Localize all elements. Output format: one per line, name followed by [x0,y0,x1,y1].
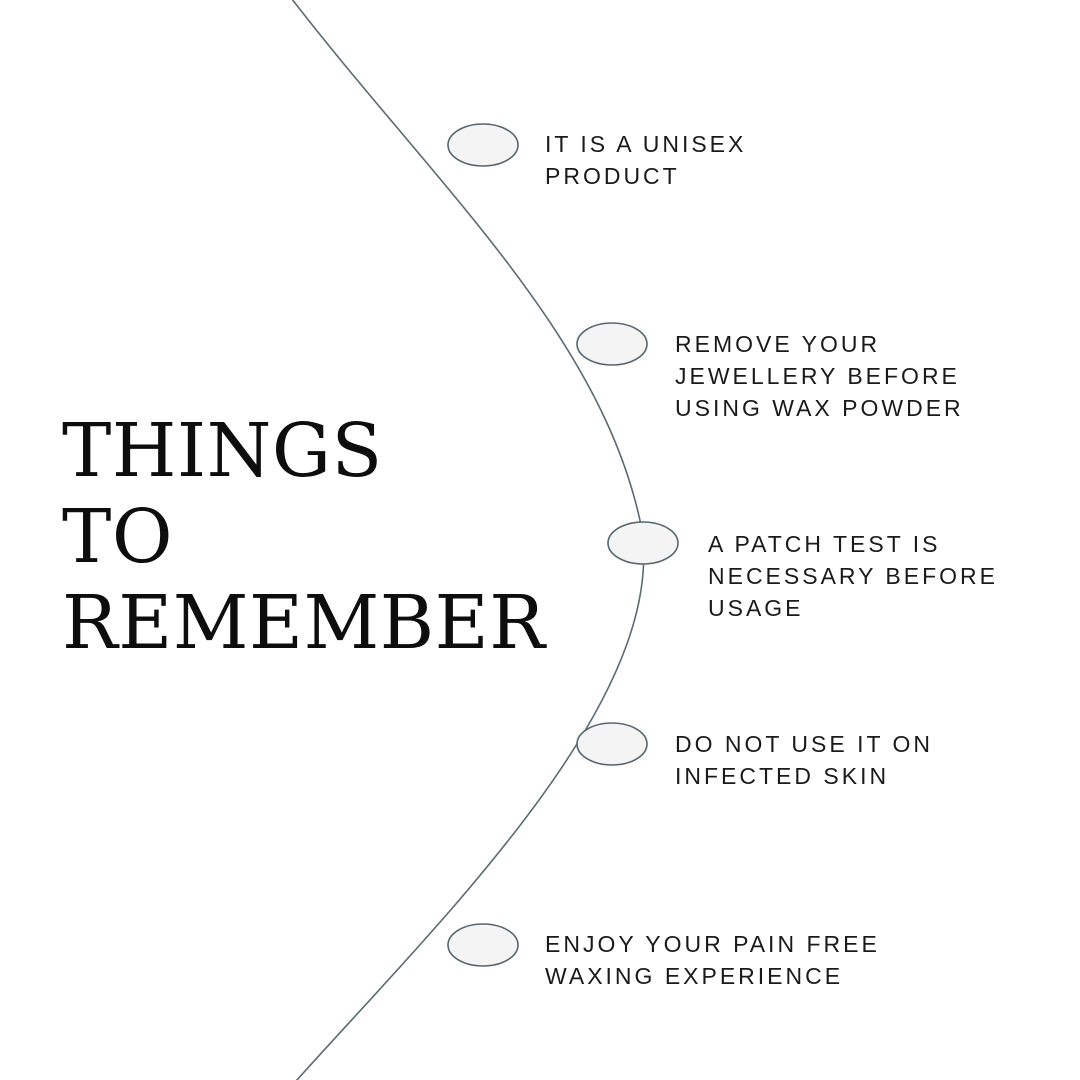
page-title-line-3: REMEMBER [62,580,492,666]
infographic-canvas: THINGS TO REMEMBER IT IS A UNISEX PRODUC… [0,0,1080,1080]
timeline-item-label-1: IT IS A UNISEX PRODUCT [545,128,965,192]
timeline-node-5[interactable] [448,924,518,966]
timeline-node-4[interactable] [577,723,647,765]
page-title: THINGS TO REMEMBER [62,408,492,666]
page-title-line-2: TO [62,494,492,580]
timeline-node-3[interactable] [608,522,678,564]
timeline-item-label-4: DO NOT USE IT ON INFECTED SKIN [675,728,1075,792]
page-title-line-1: THINGS [62,408,492,494]
timeline-item-label-5: ENJOY YOUR PAIN FREE WAXING EXPERIENCE [545,928,965,992]
timeline-node-2[interactable] [577,323,647,365]
timeline-item-label-3: A PATCH TEST IS NECESSARY BEFORE USAGE [708,528,1080,624]
timeline-item-label-2: REMOVE YOUR JEWELLERY BEFORE USING WAX P… [675,328,1075,424]
timeline-node-1[interactable] [448,124,518,166]
